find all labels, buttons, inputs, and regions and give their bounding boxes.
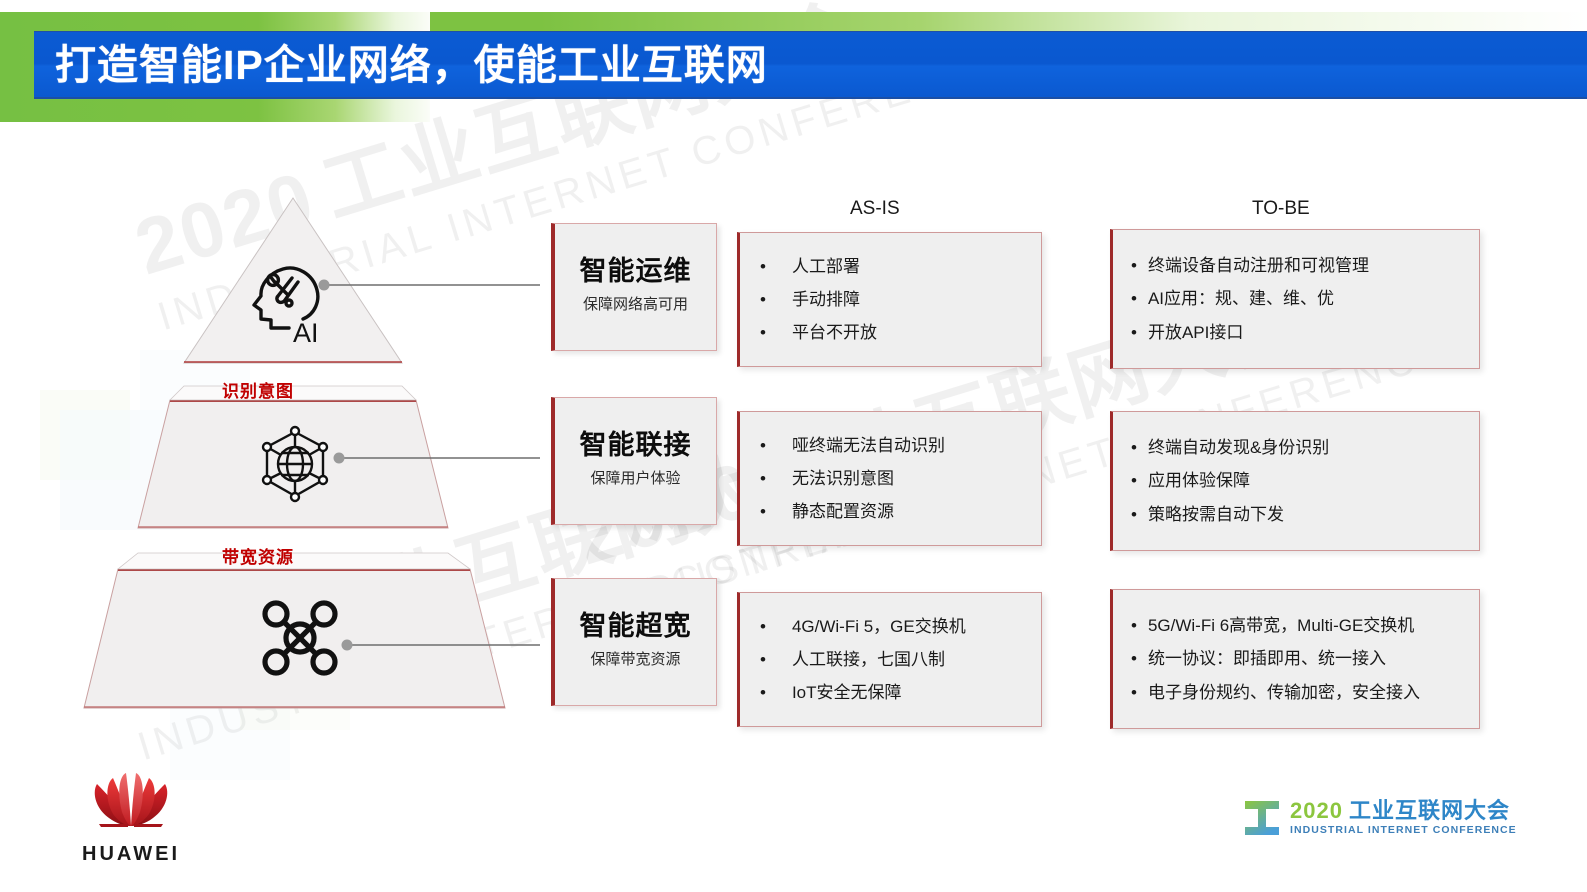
- iic-en-name: INDUSTRIAL INTERNET CONFERENCE: [1290, 825, 1517, 836]
- asis-list-2: •哑终端无法自动识别 •无法识别意图 •静态配置资源: [756, 429, 1027, 529]
- iic-text: 2020 工业互联网大会 INDUSTRIAL INTERNET CONFERE…: [1290, 800, 1517, 836]
- tier-subtitle-1: 保障网络高可用: [583, 293, 688, 314]
- bullet-icon: •: [760, 289, 766, 310]
- list-item: •平台不开放: [756, 316, 1027, 349]
- list-item-text: 应用体验保障: [1148, 470, 1250, 491]
- list-item: •电子身份规约、传输加密，安全接入: [1129, 676, 1465, 709]
- list-item-text: 人工联接，七国八制: [792, 649, 945, 670]
- list-item: •5G/Wi-Fi 6高带宽，Multi-GE交换机: [1129, 609, 1465, 642]
- tier-subtitle-3: 保障带宽资源: [590, 648, 680, 669]
- bullet-icon: •: [760, 649, 766, 670]
- list-item-text: 平台不开放: [792, 322, 877, 343]
- network-globe-icon: [250, 420, 340, 510]
- iic-cn-name: 工业互联网大会: [1349, 800, 1510, 822]
- tier-title-3: 智能超宽: [580, 611, 692, 642]
- huawei-wordmark: HUAWEI: [72, 843, 190, 866]
- tier-title-2: 智能联接: [580, 430, 692, 461]
- list-item: •终端自动发现&身份识别: [1129, 431, 1465, 464]
- asis-list-3: •4G/Wi-Fi 5，GE交换机 •人工联接，七国八制 •IoT安全无保障: [756, 610, 1027, 710]
- bullet-icon: •: [760, 322, 766, 343]
- iic-year: 2020: [1290, 800, 1343, 822]
- bullet-icon: •: [1131, 682, 1137, 703]
- bullet-icon: •: [760, 616, 766, 637]
- bullet-icon: •: [1131, 648, 1137, 669]
- list-item: •统一协议：即插即用、统一接入: [1129, 642, 1465, 675]
- tobe-box-row-2[interactable]: •终端自动发现&身份识别 •应用体验保障 •策略按需自动下发: [1110, 411, 1480, 551]
- bullet-icon: •: [1131, 255, 1137, 276]
- bullet-icon: •: [1131, 470, 1137, 491]
- list-item: •哑终端无法自动识别: [756, 429, 1027, 462]
- list-item-text: 手动排障: [792, 289, 860, 310]
- list-item: •IoT安全无保障: [756, 676, 1027, 709]
- asis-box-row-1[interactable]: •人工部署 •手动排障 •平台不开放: [737, 232, 1042, 367]
- list-item: •静态配置资源: [756, 495, 1027, 528]
- list-item: •策略按需自动下发: [1129, 498, 1465, 531]
- tobe-box-row-3[interactable]: •5G/Wi-Fi 6高带宽，Multi-GE交换机 •统一协议：即插即用、统一…: [1110, 589, 1480, 729]
- list-item: •应用体验保障: [1129, 464, 1465, 497]
- iic-logo: 2020 工业互联网大会 INDUSTRIAL INTERNET CONFERE…: [1242, 797, 1517, 839]
- list-item: •终端设备自动注册和可视管理: [1129, 249, 1465, 282]
- list-item-text: 静态配置资源: [792, 501, 894, 522]
- tobe-list-2: •终端自动发现&身份识别 •应用体验保障 •策略按需自动下发: [1129, 431, 1465, 531]
- asis-box-row-2[interactable]: •哑终端无法自动识别 •无法识别意图 •静态配置资源: [737, 411, 1042, 546]
- list-item-text: AI应用：规、建、维、优: [1148, 288, 1334, 309]
- list-item: •人工部署: [756, 250, 1027, 283]
- bullet-icon: •: [1131, 615, 1137, 636]
- bullet-icon: •: [1131, 288, 1137, 309]
- tobe-list-3: •5G/Wi-Fi 6高带宽，Multi-GE交换机 •统一协议：即插即用、统一…: [1129, 609, 1465, 709]
- column-header-asis: AS-IS: [850, 198, 900, 220]
- list-item-text: 无法识别意图: [792, 468, 894, 489]
- bullet-icon: •: [760, 468, 766, 489]
- bullet-icon: •: [760, 501, 766, 522]
- list-item: •AI应用：规、建、维、优: [1129, 282, 1465, 315]
- huawei-flower-icon: [72, 768, 190, 834]
- asis-list-1: •人工部署 •手动排障 •平台不开放: [756, 250, 1027, 350]
- list-item-text: 终端设备自动注册和可视管理: [1148, 255, 1369, 276]
- bullet-icon: •: [760, 435, 766, 456]
- list-item-text: 电子身份规约、传输加密，安全接入: [1148, 682, 1420, 703]
- list-item-text: IoT安全无保障: [792, 682, 902, 703]
- list-item-text: 人工部署: [792, 256, 860, 277]
- column-header-tobe: TO-BE: [1252, 198, 1310, 220]
- list-item-text: 策略按需自动下发: [1148, 504, 1284, 525]
- list-item-text: 哑终端无法自动识别: [792, 435, 945, 456]
- tier-label-box-1[interactable]: 智能运维 保障网络高可用: [551, 223, 717, 351]
- asis-box-row-3[interactable]: •4G/Wi-Fi 5，GE交换机 •人工联接，七国八制 •IoT安全无保障: [737, 592, 1042, 727]
- slide-title-bar: 打造智能IP企业网络，使能工业互联网: [34, 31, 1587, 99]
- list-item: •无法识别意图: [756, 462, 1027, 495]
- tobe-box-row-1[interactable]: •终端设备自动注册和可视管理 •AI应用：规、建、维、优 •开放API接口: [1110, 229, 1480, 369]
- bullet-icon: •: [1131, 437, 1137, 458]
- tobe-list-1: •终端设备自动注册和可视管理 •AI应用：规、建、维、优 •开放API接口: [1129, 249, 1465, 349]
- list-item-text: 开放API接口: [1148, 322, 1243, 343]
- pyramid-tier-label-1: 识别意图: [222, 377, 294, 402]
- list-item: •开放API接口: [1129, 316, 1465, 349]
- list-item: •4G/Wi-Fi 5，GE交换机: [756, 610, 1027, 643]
- svg-text:AI: AI: [293, 318, 319, 348]
- list-item-text: 5G/Wi-Fi 6高带宽，Multi-GE交换机: [1148, 615, 1414, 636]
- pyramid-tier-label-2: 带宽资源: [222, 543, 294, 568]
- tier-title-1: 智能运维: [580, 256, 692, 287]
- list-item: •人工联接，七国八制: [756, 643, 1027, 676]
- tier-label-box-2[interactable]: 智能联接 保障用户体验: [551, 397, 717, 525]
- watermark-square-icon: [40, 330, 270, 560]
- list-item-text: 终端自动发现&身份识别: [1148, 437, 1329, 458]
- bullet-icon: •: [760, 682, 766, 703]
- iic-row-primary: 2020 工业互联网大会: [1290, 800, 1517, 822]
- bullet-icon: •: [1131, 322, 1137, 343]
- page-title: 打造智能IP企业网络，使能工业互联网: [34, 45, 768, 86]
- iic-mark-icon: [1242, 797, 1282, 839]
- list-item: •手动排障: [756, 283, 1027, 316]
- tier-subtitle-2: 保障用户体验: [590, 467, 680, 488]
- ai-head-icon: AI: [245, 252, 337, 348]
- bullet-icon: •: [760, 256, 766, 277]
- node-cluster-icon: [252, 590, 348, 686]
- tier-label-box-3[interactable]: 智能超宽 保障带宽资源: [551, 578, 717, 706]
- slide-canvas: 2020 工业互联网大会 INDUSTRIAL INTERNET CONFERE…: [0, 0, 1587, 892]
- list-item-text: 4G/Wi-Fi 5，GE交换机: [792, 616, 966, 637]
- huawei-logo: HUAWEI: [72, 768, 190, 866]
- bullet-icon: •: [1131, 504, 1137, 525]
- list-item-text: 统一协议：即插即用、统一接入: [1148, 648, 1386, 669]
